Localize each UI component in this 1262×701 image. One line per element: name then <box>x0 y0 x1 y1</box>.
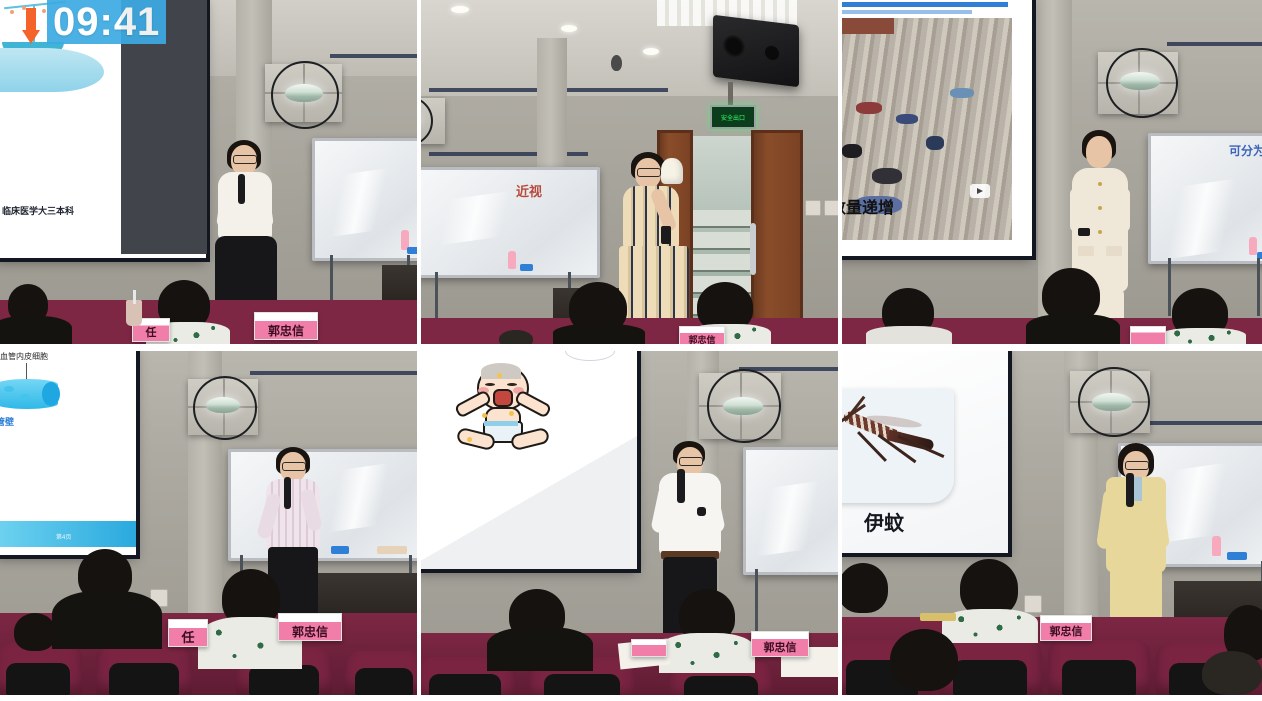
projector-screen: 数量递增 <box>842 0 1032 256</box>
audience-shoulders <box>553 324 645 344</box>
microphone-icon <box>677 469 685 503</box>
wall-outlet <box>1024 595 1042 613</box>
audience-seat <box>1048 639 1150 695</box>
microphone-icon <box>1126 473 1134 507</box>
whiteboard-stand <box>755 569 838 637</box>
sanitizer-bottle <box>508 251 516 269</box>
slide-caption: 血管内皮细胞 <box>0 351 48 362</box>
whiteboard-writing: 可分为 <box>1229 142 1262 159</box>
wall-trim-line <box>250 371 417 375</box>
glasses-icon <box>679 457 703 466</box>
audience-shoulders <box>1026 314 1120 344</box>
desk-item <box>920 613 956 621</box>
audience-shoulders <box>659 633 755 673</box>
glasses-icon <box>637 168 661 177</box>
name-placard: 郭忠信 <box>254 312 318 340</box>
audience-head <box>890 629 958 691</box>
door-handle <box>750 223 756 275</box>
whiteboard <box>312 138 417 261</box>
projector-screen: 血管内皮细胞 管壁 第4页 <box>0 351 136 555</box>
ceiling-light <box>643 48 659 55</box>
glasses-icon <box>282 462 306 471</box>
ceiling-speaker <box>713 15 799 88</box>
name-placard: 郭忠信 <box>1040 615 1092 641</box>
marker-tray <box>377 546 407 554</box>
audience-head <box>14 613 56 651</box>
name-placard: 任 <box>168 619 208 647</box>
microphone-icon <box>284 477 291 509</box>
photo-panel-4[interactable]: 血管内皮细胞 管壁 第4页 <box>0 351 417 695</box>
wall-trim-line <box>1167 42 1262 46</box>
sanitizer-bottle <box>1212 536 1221 556</box>
wooden-door <box>751 130 803 344</box>
audience-shoulders <box>1160 328 1246 344</box>
wall-outlet <box>824 200 838 216</box>
wall-trim-line <box>330 54 417 58</box>
whiteboard: 可分为 <box>1148 133 1262 264</box>
name-placard: 郭忠信 <box>278 613 342 641</box>
microphone-icon <box>238 174 245 204</box>
slide-caption: 伊蚊 <box>864 507 904 536</box>
whiteboard <box>743 447 838 575</box>
whiteboard-writing: 近视 <box>516 184 542 200</box>
whiteboard-eraser <box>407 247 417 254</box>
wall-lamp <box>421 98 445 144</box>
photo-grid: 临床医学大三本科 <box>0 0 1262 701</box>
exit-sign-label: 安全出口 <box>721 113 745 122</box>
glasses-icon <box>233 155 257 164</box>
time-badge: 09:41 <box>47 0 166 44</box>
name-placard: 郭忠信 <box>679 326 725 344</box>
slide-footer: 第4页 <box>56 532 71 541</box>
presentation-clicker <box>1078 228 1090 236</box>
presenter-figure <box>617 152 701 344</box>
play-button-icon <box>970 184 990 198</box>
sanitizer-bottle <box>1249 237 1257 255</box>
wristwatch-icon <box>697 507 706 516</box>
slide-caption: 数量递增 <box>842 194 894 218</box>
audience-shoulders <box>487 627 593 671</box>
wall-lamp <box>699 373 781 439</box>
projector-screen <box>421 351 637 569</box>
whiteboard-eraser <box>331 546 349 554</box>
audience-shoulders <box>52 591 162 649</box>
audience-seat <box>96 643 192 695</box>
photo-panel-3[interactable]: 数量递增 可分为 <box>842 0 1262 344</box>
mosquito-photo <box>842 389 954 503</box>
projector-screen: 伊蚊 <box>842 351 1008 553</box>
presenter-figure <box>205 140 285 320</box>
audience-shoulders <box>942 609 1038 643</box>
name-placard: 郭忠信 <box>751 631 809 657</box>
audience-head <box>499 330 533 344</box>
whiteboard-eraser <box>520 264 533 271</box>
whiteboard: 近视 <box>421 167 600 278</box>
audience-shoulders <box>0 316 72 344</box>
slide-caption: 临床医学大三本科 <box>2 204 74 217</box>
wall-lamp <box>265 64 342 122</box>
security-camera-icon <box>611 55 622 71</box>
whiteboard-eraser <box>1227 552 1247 560</box>
blood-vessel-diagram <box>0 379 58 409</box>
photo-panel-1[interactable]: 临床医学大三本科 <box>0 0 417 344</box>
straw-icon <box>133 290 136 304</box>
photo-panel-5[interactable]: 郭忠信 <box>421 351 838 695</box>
wall-lamp <box>188 379 258 435</box>
crying-baby-cartoon <box>451 361 555 449</box>
wall-lamp <box>1070 371 1150 433</box>
name-placard <box>1130 326 1166 344</box>
photo-panel-6[interactable]: 伊蚊 <box>842 351 1262 695</box>
microphone-transmitter <box>661 226 671 244</box>
ceiling-light <box>451 6 469 13</box>
name-placard <box>631 639 667 657</box>
audience-shoulders <box>866 326 952 344</box>
tooth-model <box>661 158 683 184</box>
audience-seat <box>344 651 417 695</box>
photo-panel-2[interactable]: 安全出口 近视 <box>421 0 838 344</box>
wall-trim-line <box>1142 421 1262 425</box>
glasses-icon <box>1125 461 1149 470</box>
wall-outlet <box>805 200 821 216</box>
audience-head <box>1202 651 1262 695</box>
ceiling-light <box>561 25 577 32</box>
exit-sign: 安全出口 <box>710 105 756 129</box>
wall-lamp <box>1098 52 1178 114</box>
slide-caption-secondary: 管壁 <box>0 415 14 428</box>
audience-head <box>842 563 888 613</box>
